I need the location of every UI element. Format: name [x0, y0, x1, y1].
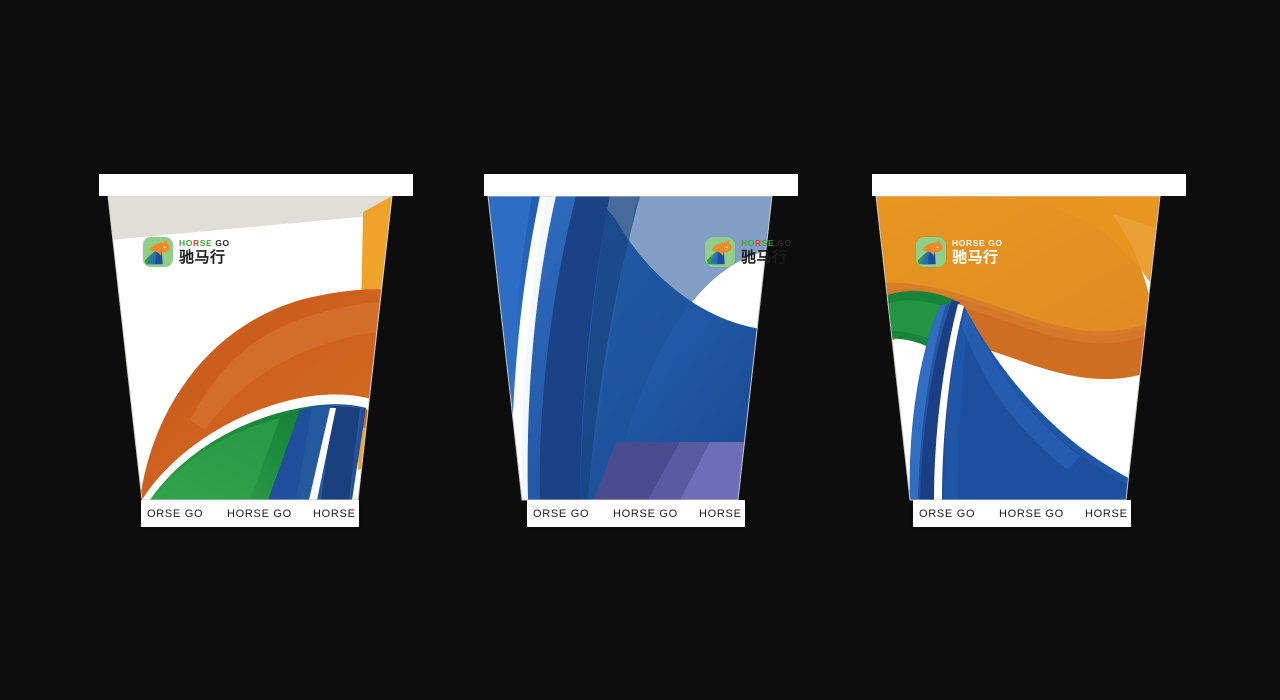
cup-1-rim — [99, 174, 413, 196]
band-label-1: ORSE GO — [919, 508, 975, 520]
cup-3-bottom-band: ORSE GO HORSE GO HORSE — [913, 500, 1131, 527]
band-label-2: HORSE GO — [613, 508, 678, 520]
cup-1-bottom-band: ORSE GO HORSE GO HORSE — [141, 500, 359, 527]
band-label-3: HORSE — [313, 508, 356, 520]
mockup-stage: ORSE GO HORSE GO HORSE HORSE GO 驰马行 — [0, 0, 1280, 700]
band-label-2: HORSE GO — [999, 508, 1064, 520]
cup-2-artwork — [480, 190, 780, 510]
band-label-3: HORSE — [699, 508, 742, 520]
cup-1 — [0, 0, 440, 560]
cup-2-rim — [484, 174, 798, 196]
cup-2-bottom-band: ORSE GO HORSE GO HORSE — [527, 500, 745, 527]
band-label-1: ORSE GO — [533, 508, 589, 520]
band-label-3: HORSE — [1085, 508, 1128, 520]
cup-3-rim — [872, 174, 1186, 196]
cup-3 — [768, 0, 1208, 560]
cup-2 — [380, 0, 820, 560]
cup-1-artwork — [100, 190, 400, 510]
band-label-1: ORSE GO — [147, 508, 203, 520]
cup-3-artwork — [868, 190, 1168, 510]
band-label-2: HORSE GO — [227, 508, 292, 520]
